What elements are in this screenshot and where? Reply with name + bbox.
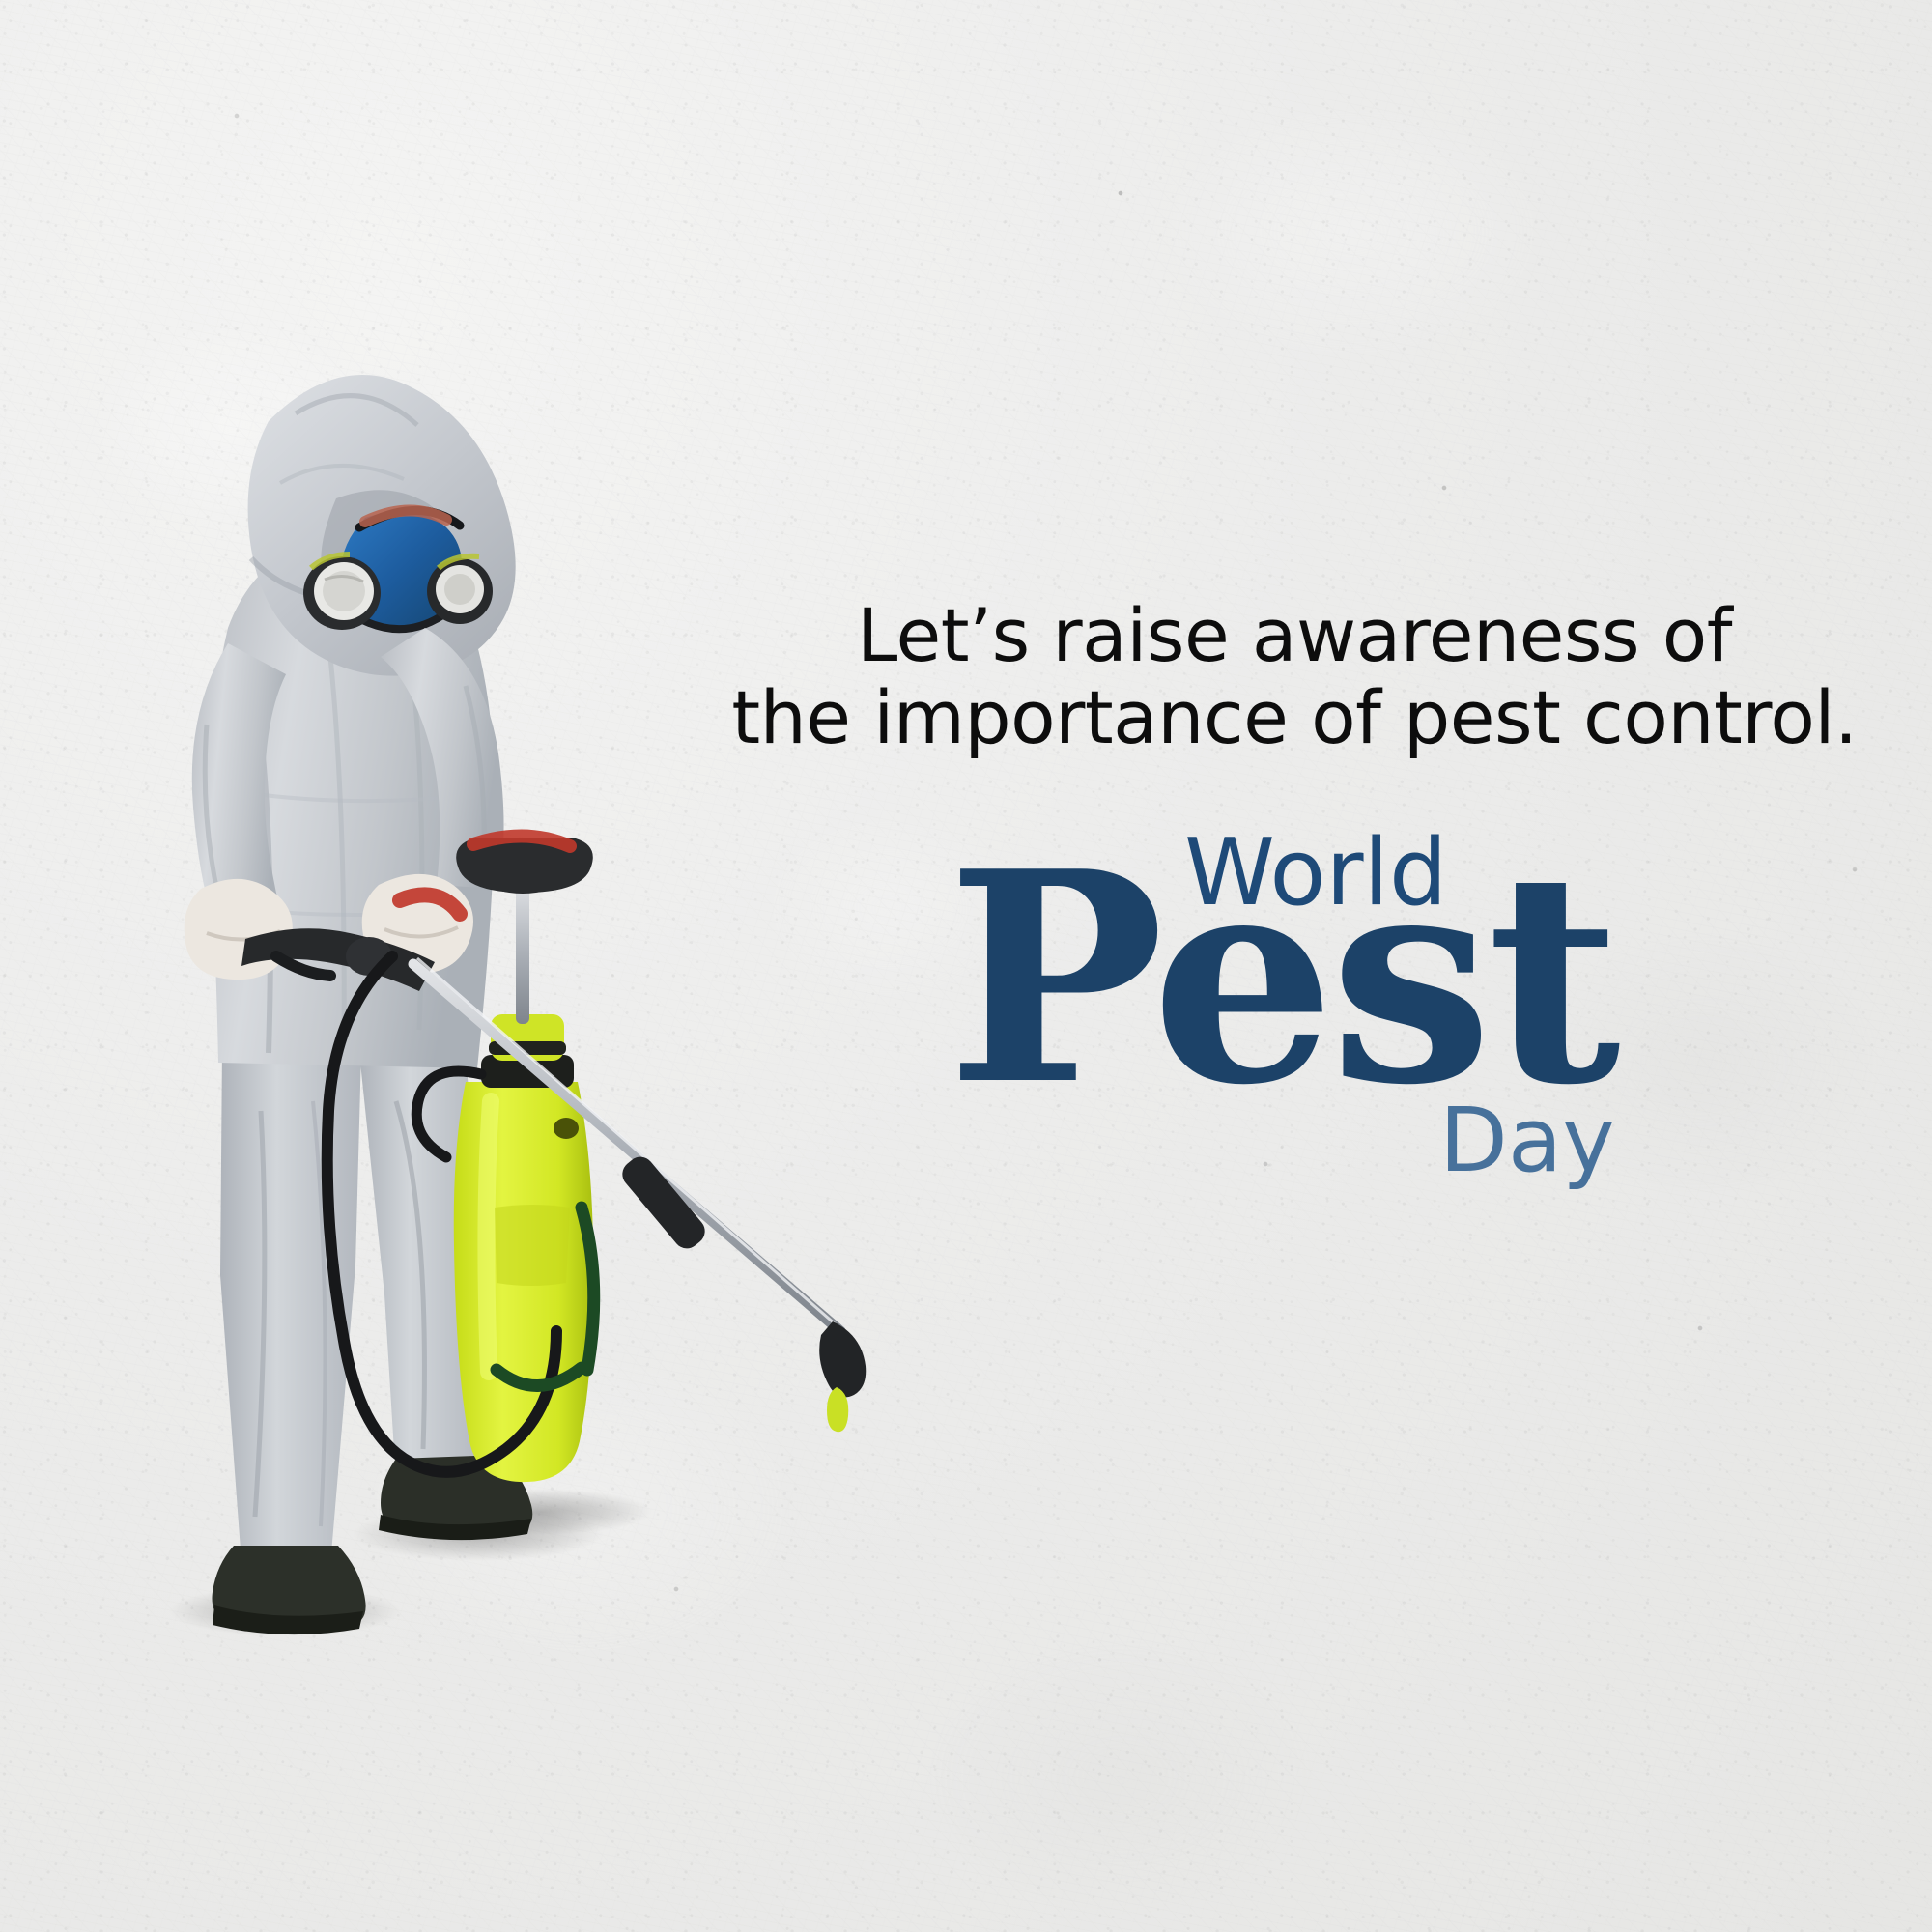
tank-emboss: [495, 1205, 570, 1286]
logo-word-day: Day: [1439, 1096, 1615, 1185]
spray-nozzle: [819, 1321, 866, 1397]
pest-control-worker-illustration: [106, 338, 1072, 1710]
respirator-filter-right: [427, 558, 493, 624]
headline-text: Let’s raise awareness of the importance …: [715, 594, 1874, 758]
logo-word-world: World: [1184, 828, 1447, 920]
world-pest-day-logo: Pest World Day: [947, 816, 1681, 1222]
tank-highlight: [486, 1101, 491, 1372]
tank-gauge-port: [554, 1118, 579, 1139]
poster-canvas: Let’s raise awareness of the importance …: [0, 0, 1932, 1932]
pump-shaft: [516, 879, 529, 1024]
